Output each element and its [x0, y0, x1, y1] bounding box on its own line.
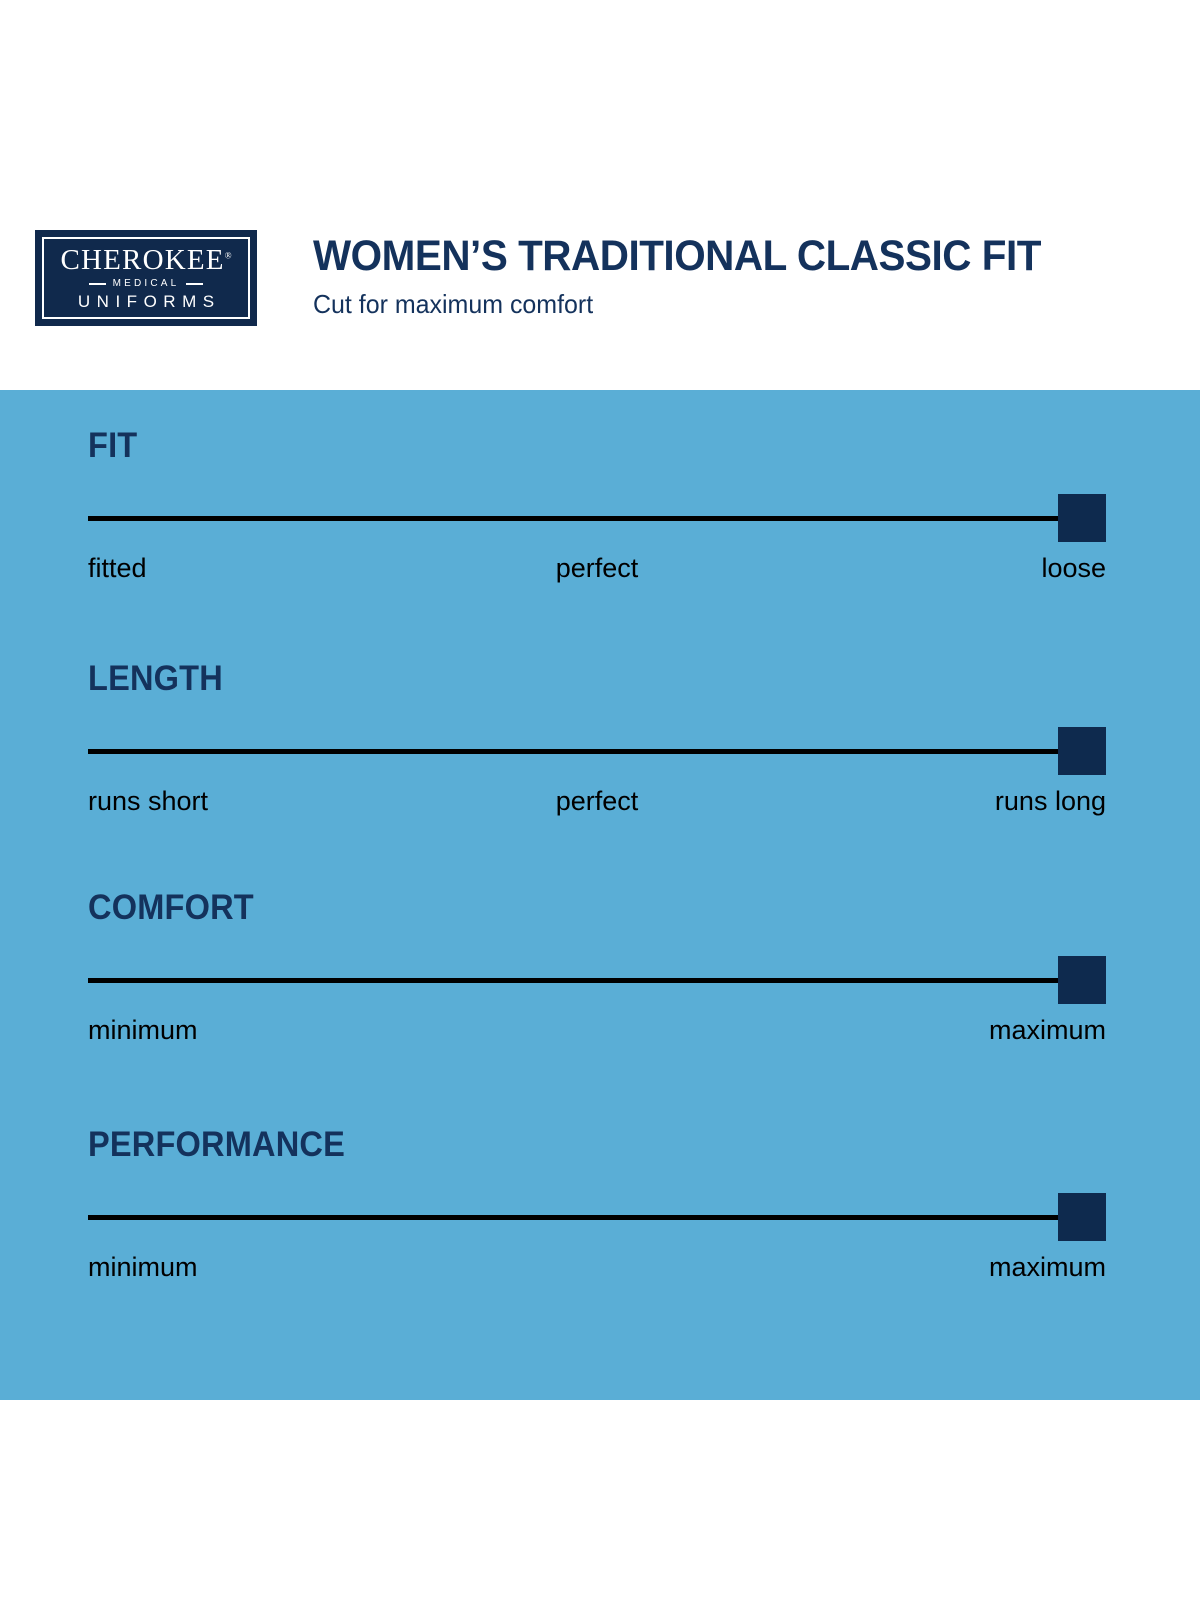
slider-track-length[interactable]	[88, 749, 1058, 754]
logo-brand-name: CHEROKEE®	[60, 246, 231, 275]
slider-marker-performance[interactable]	[1058, 1193, 1106, 1241]
metric-fit: FIT fitted perfect loose	[88, 428, 1106, 592]
slider-track-comfort[interactable]	[88, 978, 1058, 983]
logo-uniforms-text: UNIFORMS	[71, 293, 220, 310]
scale-labels-performance: minimum maximum	[88, 1251, 1106, 1291]
logo-medical-row: MEDICAL	[89, 279, 204, 289]
logo-medical-text: MEDICAL	[113, 279, 180, 289]
metric-heading-fit: FIT	[88, 428, 1035, 463]
page-header: CHEROKEE® MEDICAL UNIFORMS WOMEN’S TRADI…	[0, 0, 1200, 390]
header-text-block: WOMEN’S TRADITIONAL CLASSIC FIT Cut for …	[313, 234, 1087, 319]
fit-guide-page: CHEROKEE® MEDICAL UNIFORMS WOMEN’S TRADI…	[0, 0, 1200, 1600]
footer-whitespace	[0, 1400, 1200, 1600]
scale-label-comfort-start: minimum	[88, 1014, 198, 1046]
logo-rule-right-icon	[186, 283, 203, 285]
metric-heading-comfort: COMFORT	[88, 890, 1035, 925]
slider-comfort[interactable]	[88, 956, 1106, 1004]
scale-label-length-end: runs long	[995, 785, 1106, 817]
slider-track-performance[interactable]	[88, 1215, 1058, 1220]
scale-label-fit-start: fitted	[88, 552, 147, 584]
metric-heading-performance: PERFORMANCE	[88, 1127, 1035, 1162]
cherokee-medical-uniforms-logo: CHEROKEE® MEDICAL UNIFORMS	[35, 230, 257, 326]
slider-performance[interactable]	[88, 1193, 1106, 1241]
scale-label-length-middle: perfect	[556, 785, 639, 817]
slider-fit[interactable]	[88, 494, 1106, 542]
logo-inner-frame: CHEROKEE® MEDICAL UNIFORMS	[42, 237, 250, 319]
slider-track-fit[interactable]	[88, 516, 1058, 521]
slider-marker-length[interactable]	[1058, 727, 1106, 775]
scale-labels-length: runs short perfect runs long	[88, 785, 1106, 825]
scale-labels-fit: fitted perfect loose	[88, 552, 1106, 592]
scale-label-length-start: runs short	[88, 785, 208, 817]
slider-marker-comfort[interactable]	[1058, 956, 1106, 1004]
registered-trademark-icon: ®	[225, 250, 232, 260]
scale-labels-comfort: minimum maximum	[88, 1014, 1106, 1054]
page-title: WOMEN’S TRADITIONAL CLASSIC FIT	[313, 234, 1041, 279]
slider-length[interactable]	[88, 727, 1106, 775]
scale-label-performance-start: minimum	[88, 1251, 198, 1283]
scale-label-fit-middle: perfect	[556, 552, 639, 584]
logo-brand-text: CHEROKEE	[60, 244, 224, 276]
scale-label-performance-end: maximum	[989, 1251, 1106, 1283]
page-subtitle: Cut for maximum comfort	[313, 290, 1056, 319]
scale-label-comfort-end: maximum	[989, 1014, 1106, 1046]
metric-heading-length: LENGTH	[88, 661, 1035, 696]
slider-marker-fit[interactable]	[1058, 494, 1106, 542]
metric-length: LENGTH runs short perfect runs long	[88, 661, 1106, 825]
logo-rule-left-icon	[89, 283, 106, 285]
metrics-panel: FIT fitted perfect loose LENGTH runs sho…	[0, 390, 1200, 1400]
scale-label-fit-end: loose	[1041, 552, 1106, 584]
metric-comfort: COMFORT minimum maximum	[88, 890, 1106, 1054]
metric-performance: PERFORMANCE minimum maximum	[88, 1127, 1106, 1291]
